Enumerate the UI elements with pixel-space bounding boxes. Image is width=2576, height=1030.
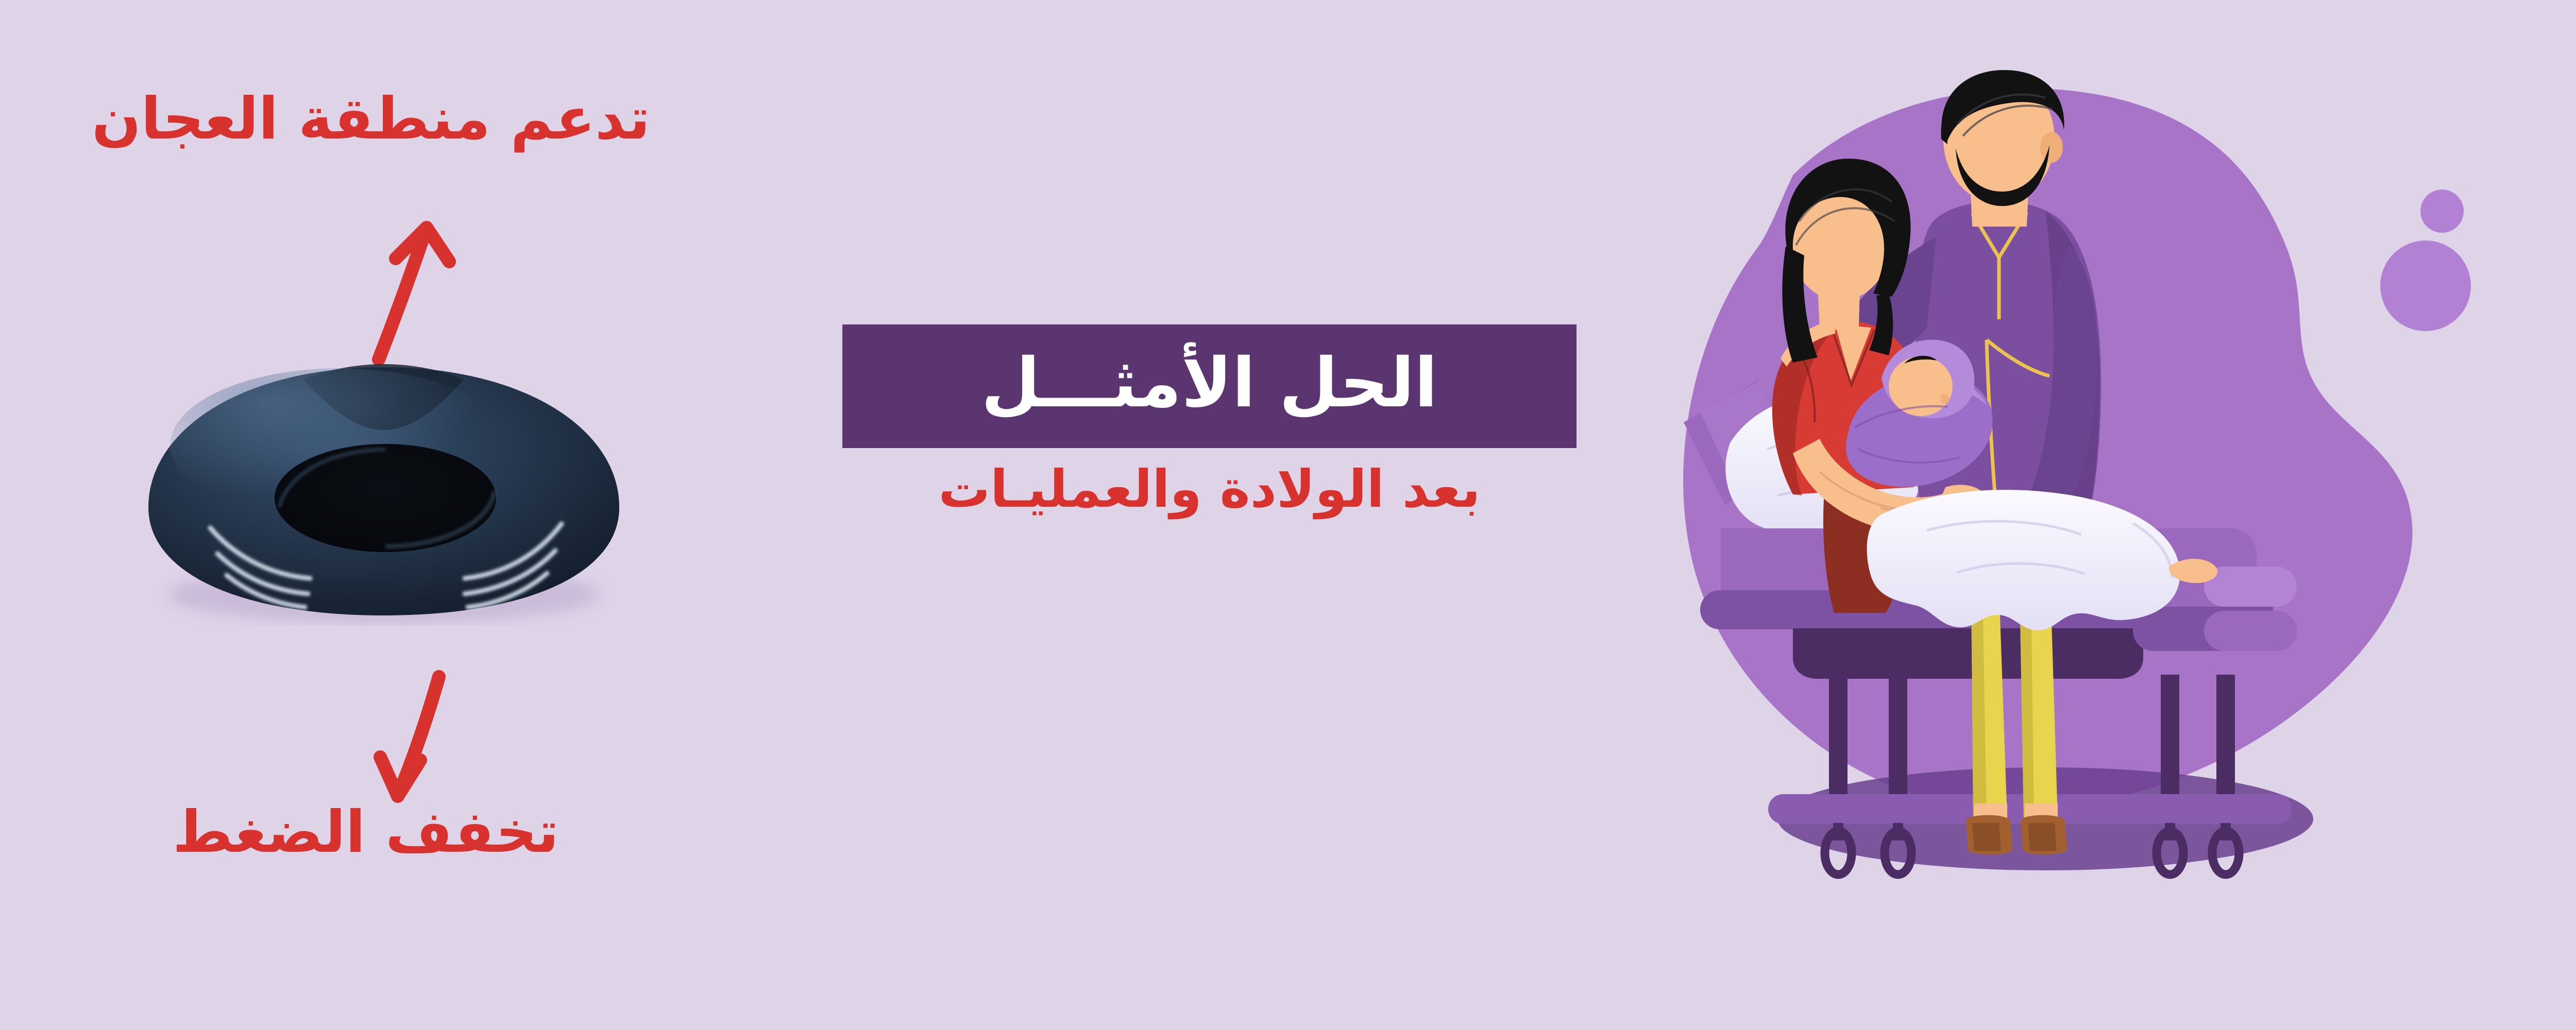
large-purple-circle (2380, 241, 2471, 331)
headline-block: الحل الأمثـــل بعد الولادة والعمليـات (824, 309, 1597, 551)
arrow-down-icon (319, 664, 536, 819)
left-feature-column: تدعم منطقة العجان (0, 0, 773, 1030)
family-illustration (1638, 51, 2561, 978)
bed-under-block (1793, 628, 2143, 679)
headline-box: الحل الأمثـــل (842, 324, 1577, 448)
promo-banner: تدعم منطقة العجان (0, 0, 2576, 1030)
subtitle-text: بعد الولادة والعمليـات (842, 463, 1577, 515)
small-purple-circle (2420, 190, 2464, 233)
feature-caption-top: تدعم منطقة العجان (0, 90, 742, 148)
arrow-up-icon (289, 196, 526, 366)
feature-caption-bottom: تخفف الضغط (62, 803, 670, 861)
donut-cushion-image (118, 353, 649, 626)
headline-text: الحل الأمثـــل (981, 349, 1437, 417)
